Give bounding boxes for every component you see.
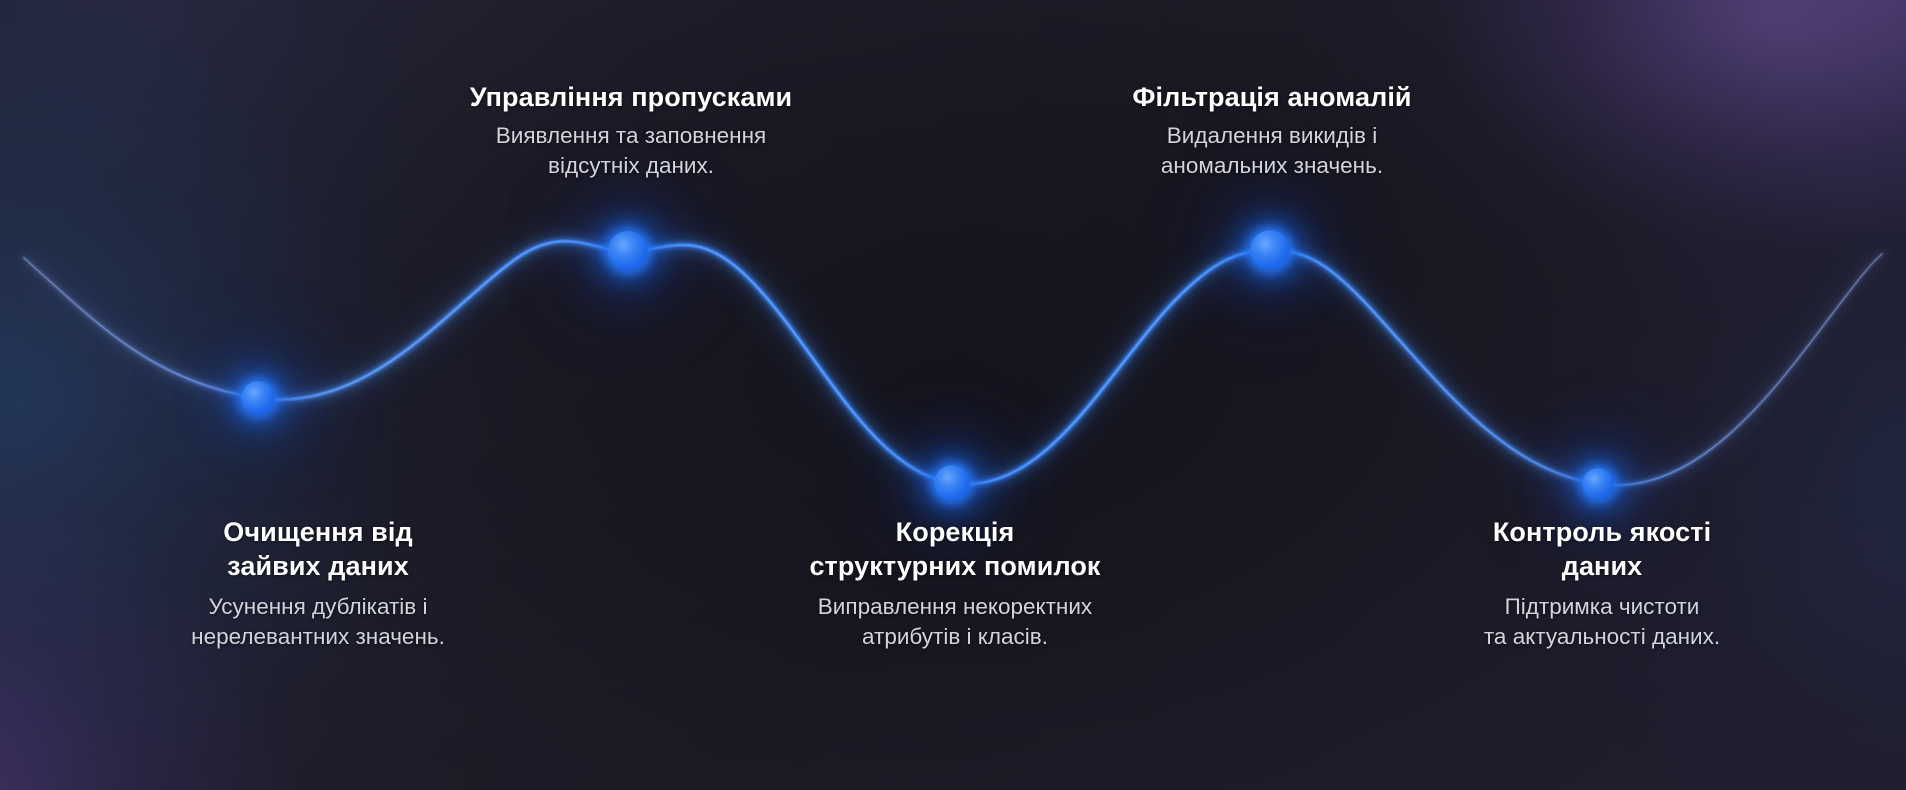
step-label-anomalies: Фільтрація аномалійВидалення викидів і а…: [1132, 80, 1411, 181]
step-label-structural: Корекція структурних помилокВиправлення …: [809, 515, 1100, 652]
wave-core-line: [24, 241, 1882, 485]
wave-outer-glow: [24, 241, 1882, 485]
step-description-structural: Виправлення некоректних атрибутів і клас…: [809, 592, 1100, 652]
background-vignette: [0, 0, 1906, 790]
step-title-missing: Управління пропусками: [470, 80, 793, 114]
infographic-canvas: Очищення від зайвих данихУсунення дублік…: [0, 0, 1906, 790]
step-description-cleaning: Усунення дублікатів і нерелевантних знач…: [191, 592, 445, 652]
wave-node-missing[interactable]: [608, 231, 648, 271]
wave-mid-glow: [24, 241, 1882, 485]
wave-node-quality[interactable]: [1582, 468, 1614, 500]
step-label-missing: Управління пропускамиВиявлення та заповн…: [470, 80, 793, 181]
step-label-quality: Контроль якості данихПідтримка чистоти т…: [1450, 515, 1754, 652]
step-description-anomalies: Видалення викидів і аномальних значень.: [1132, 121, 1411, 181]
step-label-cleaning: Очищення від зайвих данихУсунення дублік…: [191, 515, 445, 652]
step-title-quality: Контроль якості даних: [1450, 515, 1754, 583]
background-glow-left-blue: [0, 0, 1906, 790]
step-description-missing: Виявлення та заповнення відсутніх даних.: [470, 121, 793, 181]
background-glow-top-left: [0, 0, 1906, 790]
background-noise-texture: [0, 0, 1906, 790]
background-base-gradient: [0, 0, 1906, 790]
wave-node-anomalies[interactable]: [1250, 230, 1290, 270]
step-description-quality: Підтримка чистоти та актуальності даних.: [1450, 592, 1754, 652]
background-glow-bottom-left-purple: [0, 0, 1906, 790]
step-title-structural: Корекція структурних помилок: [809, 515, 1100, 583]
background-glow-right-blue: [0, 0, 1906, 790]
wave-highlight-line: [24, 241, 1882, 485]
wave-curve-graphic: [0, 0, 1906, 790]
wave-node-structural[interactable]: [934, 465, 970, 501]
wave-node-cleaning[interactable]: [241, 381, 275, 415]
wave-soft-edge: [24, 241, 1882, 485]
step-title-anomalies: Фільтрація аномалій: [1132, 80, 1411, 114]
background-glow-top-right-accent: [0, 0, 1906, 790]
step-title-cleaning: Очищення від зайвих даних: [191, 515, 445, 583]
background-glow-top-right-purple: [0, 0, 1906, 790]
